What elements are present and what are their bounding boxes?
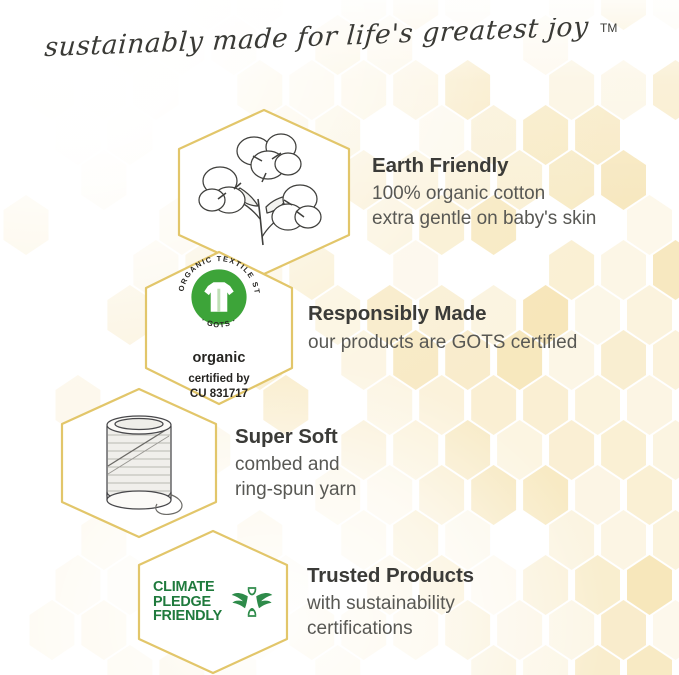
trademark-symbol: TM <box>600 21 617 35</box>
headline-text: sustainably made for life's greatest joy <box>43 18 590 63</box>
climate-pledge-wordmark: CLIMATE PLEDGE FRIENDLY <box>153 580 222 625</box>
gots-certified-by-label: certified by <box>188 373 249 385</box>
feature-title: Responsibly Made <box>308 301 577 327</box>
hexagon-frame-trusted-products: CLIMATE PLEDGE FRIENDLY <box>133 527 293 675</box>
feature-line: combed and <box>235 452 356 477</box>
hexagon-frame-super-soft <box>55 385 223 541</box>
feature-copy-responsibly-made: Responsibly Made our products are GOTS c… <box>308 301 577 354</box>
feature-line: certifications <box>307 616 474 641</box>
feature-line: ring-spun yarn <box>235 477 356 502</box>
feature-line: extra gentle on baby's skin <box>372 206 596 231</box>
feature-line: with sustainability <box>307 591 474 616</box>
feature-line: 100% organic cotton <box>372 181 596 206</box>
feature-copy-trusted-products: Trusted Products with sustainability cer… <box>307 563 474 641</box>
winged-hourglass-icon <box>231 582 273 622</box>
headline-script-text: sustainably made for life's greatest joy… <box>40 18 640 74</box>
sustainability-infographic: sustainably made for life's greatest joy… <box>0 0 679 675</box>
thread-spool-illustration <box>55 385 223 541</box>
gots-certification-badge: GLOBAL ORGANIC TEXTILE STANDARD · GOTS ·… <box>140 248 298 408</box>
hexagon-frame-responsibly-made: GLOBAL ORGANIC TEXTILE STANDARD · GOTS ·… <box>140 248 298 408</box>
feature-copy-earth-friendly: Earth Friendly 100% organic cotton extra… <box>372 153 596 231</box>
cpf-word-pledge: PLEDGE <box>153 595 222 610</box>
cotton-plant-icon <box>196 127 332 257</box>
feature-title: Trusted Products <box>307 563 474 589</box>
feature-title: Super Soft <box>235 424 356 450</box>
feature-line: our products are GOTS certified <box>308 330 577 355</box>
climate-pledge-friendly-badge: CLIMATE PLEDGE FRIENDLY <box>133 527 293 675</box>
cpf-word-climate: CLIMATE <box>153 580 222 595</box>
thread-spool-icon <box>79 404 199 522</box>
cpf-word-friendly: FRIENDLY <box>153 609 222 624</box>
feature-row-trusted-products: CLIMATE PLEDGE FRIENDLY <box>133 527 474 675</box>
feature-row-responsibly-made: GLOBAL ORGANIC TEXTILE STANDARD · GOTS ·… <box>140 248 577 408</box>
feature-title: Earth Friendly <box>372 153 596 179</box>
feature-row-super-soft: Super Soft combed and ring-spun yarn <box>55 385 356 541</box>
feature-copy-super-soft: Super Soft combed and ring-spun yarn <box>235 424 356 502</box>
page-title: sustainably made for life's greatest joy… <box>0 18 679 78</box>
gots-logo-icon: GLOBAL ORGANIC TEXTILE STANDARD · GOTS · <box>173 251 265 343</box>
gots-organic-label: organic <box>188 350 249 366</box>
